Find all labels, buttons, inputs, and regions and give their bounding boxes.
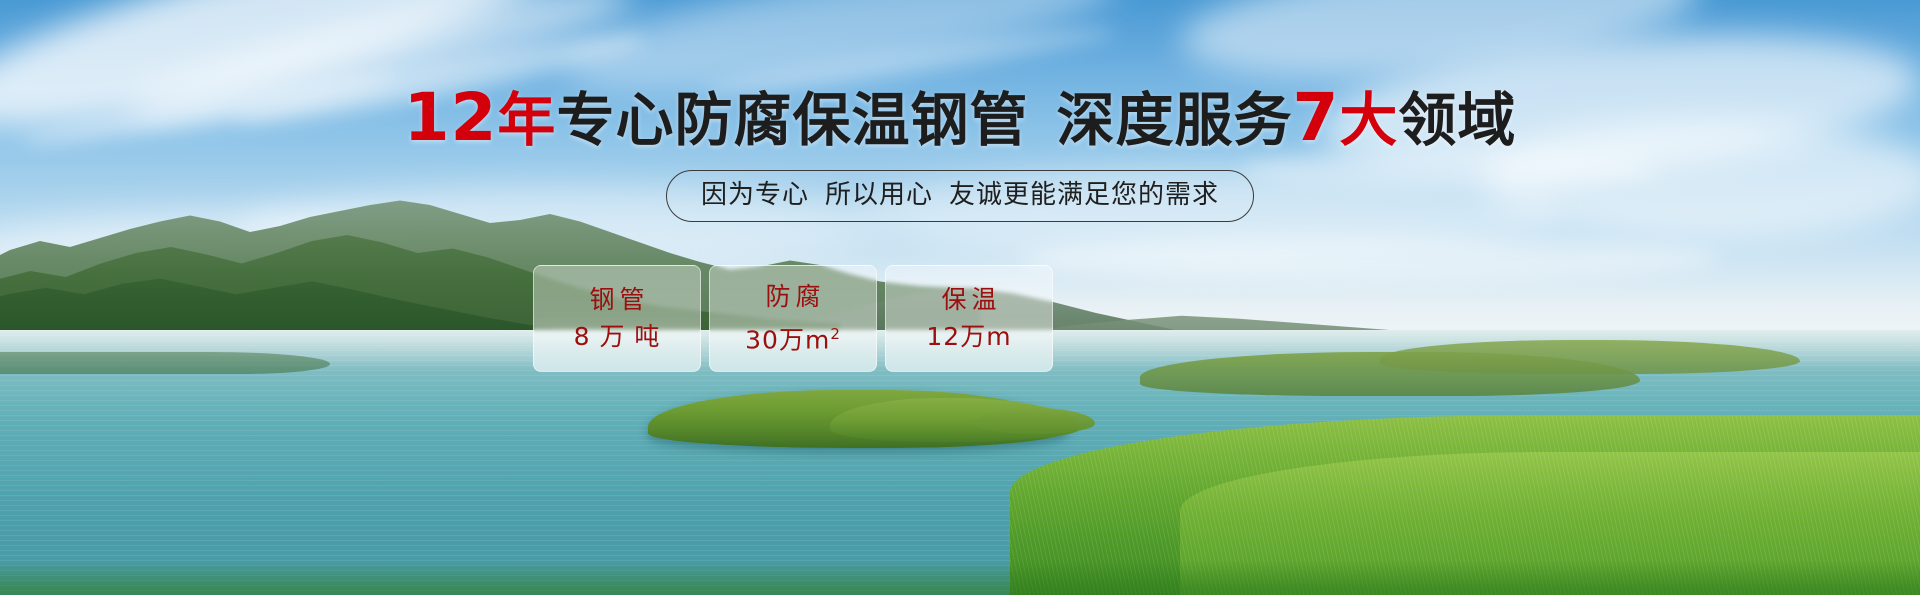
stat-card-insulation: 保温 12万m bbox=[885, 265, 1053, 372]
banner-headline: 12年专心防腐保温钢管深度服务7大领域 bbox=[0, 88, 1920, 150]
headline-fields-number: 7 bbox=[1292, 79, 1339, 156]
banner-subtitle-pill: 因为专心所以用心友诚更能满足您的需求 bbox=[666, 170, 1254, 222]
stat-label: 防腐 bbox=[760, 284, 825, 310]
headline-fields-text: 领域 bbox=[1398, 86, 1516, 154]
subtitle-part-2: 所以用心 bbox=[825, 180, 933, 210]
stat-card-steel-pipe: 钢管 8 万 吨 bbox=[533, 265, 701, 372]
stat-label: 钢管 bbox=[584, 287, 649, 313]
headline-fields-unit: 大 bbox=[1339, 86, 1398, 154]
stat-value-main: 30万m bbox=[745, 325, 830, 354]
stat-value-main: 12万m bbox=[926, 322, 1011, 351]
stat-value-main: 8 万 吨 bbox=[574, 322, 661, 351]
headline-years-number: 12 bbox=[404, 79, 498, 156]
stat-value: 30万m2 bbox=[745, 321, 841, 353]
subtitle-part-3: 友诚更能满足您的需求 bbox=[949, 180, 1219, 210]
stat-card-group: 钢管 8 万 吨 防腐 30万m2 保温 12万m bbox=[533, 265, 1053, 372]
banner-subtitle-wrap: 因为专心所以用心友诚更能满足您的需求 bbox=[0, 170, 1920, 222]
banner-content: 12年专心防腐保温钢管深度服务7大领域 因为专心所以用心友诚更能满足您的需求 钢… bbox=[0, 0, 1920, 595]
headline-service-text: 深度服务 bbox=[1056, 86, 1292, 154]
stat-value-superscript: 2 bbox=[830, 325, 841, 343]
stat-value: 12万m bbox=[926, 324, 1011, 350]
headline-focus-text: 专心防腐保温钢管 bbox=[556, 86, 1028, 154]
stat-card-anticorrosion: 防腐 30万m2 bbox=[709, 265, 877, 372]
subtitle-part-1: 因为专心 bbox=[701, 180, 809, 210]
hero-banner: 12年专心防腐保温钢管深度服务7大领域 因为专心所以用心友诚更能满足您的需求 钢… bbox=[0, 0, 1920, 595]
stat-label: 保温 bbox=[936, 287, 1001, 313]
headline-years-unit: 年 bbox=[497, 86, 556, 154]
stat-value: 8 万 吨 bbox=[574, 324, 661, 350]
